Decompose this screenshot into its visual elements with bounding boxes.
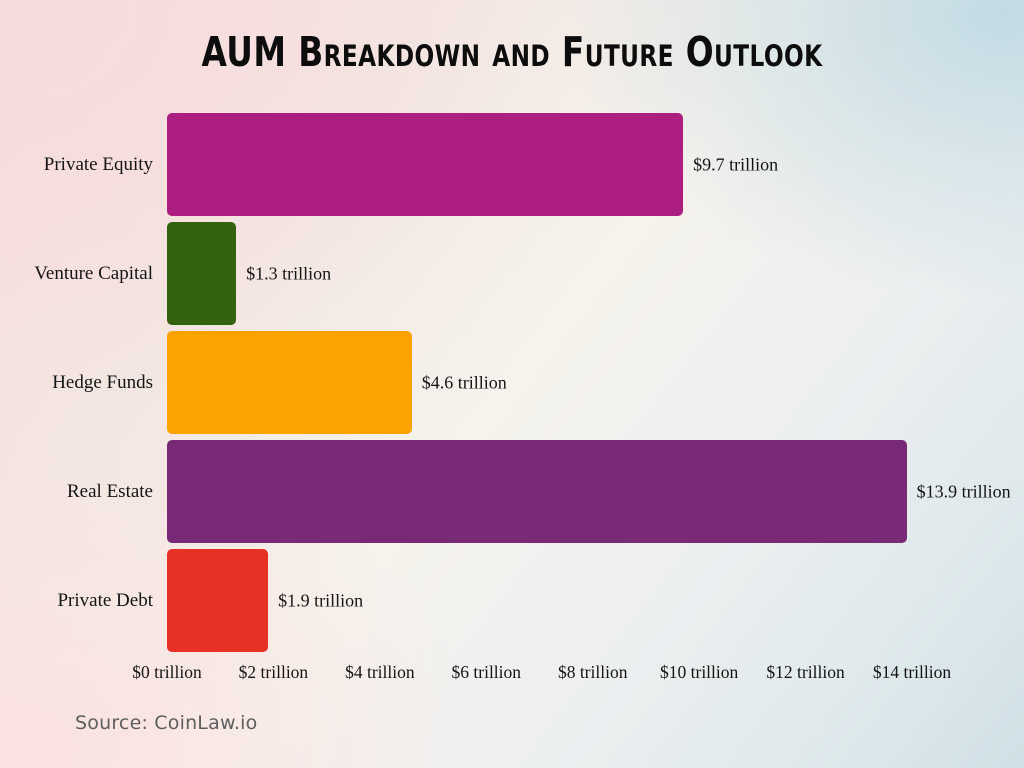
bar-value-label: $13.9 trillion [917,481,1011,502]
x-axis-tick-label: $14 trillion [873,662,951,683]
x-axis-tick-label: $12 trillion [766,662,844,683]
source-attribution: Source: CoinLaw.io [75,712,257,734]
x-axis-tick-label: $4 trillion [345,662,415,683]
bar-value-label: $1.3 trillion [246,263,331,284]
bar-value-label: $4.6 trillion [422,372,507,393]
bar-private-equity [167,113,683,216]
x-axis-tick-label: $6 trillion [452,662,522,683]
bar-hedge-funds [167,331,412,434]
bar-value-label: $1.9 trillion [278,590,363,611]
bar-row: Private Debt$1.9 trillion [167,549,912,652]
x-axis-tick-label: $0 trillion [132,662,202,683]
chart-canvas: AUM Breakdown and Future Outlook Private… [0,0,1024,768]
x-axis: $0 trillion$2 trillion$4 trillion$6 tril… [167,662,912,688]
bar-private-debt [167,549,268,652]
bar-row: Venture Capital$1.3 trillion [167,222,912,325]
plot-area: Private Equity$9.7 trillionVenture Capit… [167,110,912,655]
category-label: Venture Capital [34,263,153,285]
bar-row: Real Estate$13.9 trillion [167,440,912,543]
bar-row: Private Equity$9.7 trillion [167,113,912,216]
bar-venture-capital [167,222,236,325]
chart-title: AUM Breakdown and Future Outlook [102,28,921,76]
x-axis-tick-label: $8 trillion [558,662,628,683]
category-label: Hedge Funds [52,372,153,394]
x-axis-tick-label: $10 trillion [660,662,738,683]
category-label: Real Estate [67,481,153,503]
bar-value-label: $9.7 trillion [693,154,778,175]
bar-row: Hedge Funds$4.6 trillion [167,331,912,434]
x-axis-tick-label: $2 trillion [239,662,309,683]
category-label: Private Equity [44,154,153,176]
category-label: Private Debt [57,590,153,612]
bar-real-estate [167,440,907,543]
